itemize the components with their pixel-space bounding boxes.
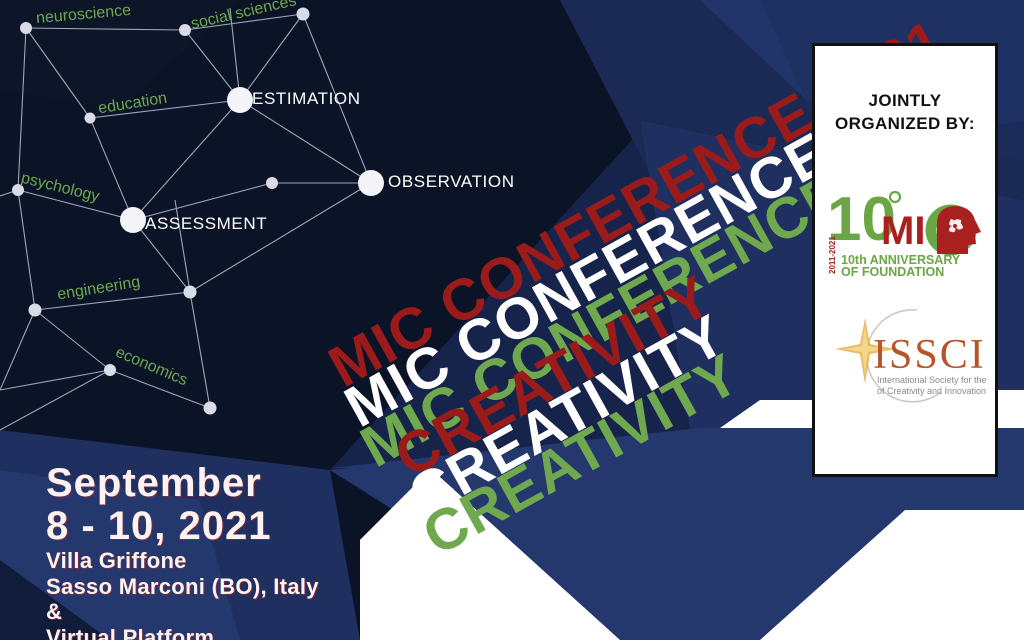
panel-title: JOINTLY ORGANIZED BY: (815, 90, 995, 136)
node-label-estimation: ESTIMATION (252, 89, 361, 109)
node-label-assessment: ASSESSMENT (145, 214, 267, 234)
panel-title-line2: ORGANIZED BY: (815, 113, 995, 136)
event-city: Sasso Marconi (BO), Italy (46, 574, 319, 600)
event-venue: Villa Griffone (46, 548, 319, 574)
network-graph (0, 0, 640, 470)
event-platform: Virtual Platform (46, 625, 319, 640)
issci-acronym: ISSCI (873, 332, 986, 378)
issci-tagline-line2: of Creativity and Innovation (877, 386, 986, 396)
sponsor-panel: JOINTLY ORGANIZED BY: 10 MIC (812, 43, 998, 477)
node-label-observation: OBSERVATION (388, 172, 515, 192)
panel-title-line1: JOINTLY (815, 90, 995, 113)
issci-logo[interactable]: ISSCI International Society for the Stud… (821, 300, 989, 408)
event-details: September 8 - 10, 2021 Villa Griffone Sa… (46, 462, 319, 640)
issci-tagline-line1: International Society for the Study (877, 375, 989, 385)
event-ampersand: & (46, 599, 319, 625)
event-days: 8 - 10, 2021 (46, 505, 319, 548)
conference-poster: ESTIMATION OBSERVATION ASSESSMENT neuros… (0, 0, 1024, 640)
event-month: September (46, 462, 319, 505)
mic-logo-years: 2011-2021 (828, 236, 837, 274)
mic-anniversary-logo[interactable]: 10 MIC 2011-2021 10th ANN (825, 182, 985, 278)
mic-logo-anniversary-line2: OF FOUNDATION (841, 265, 944, 278)
